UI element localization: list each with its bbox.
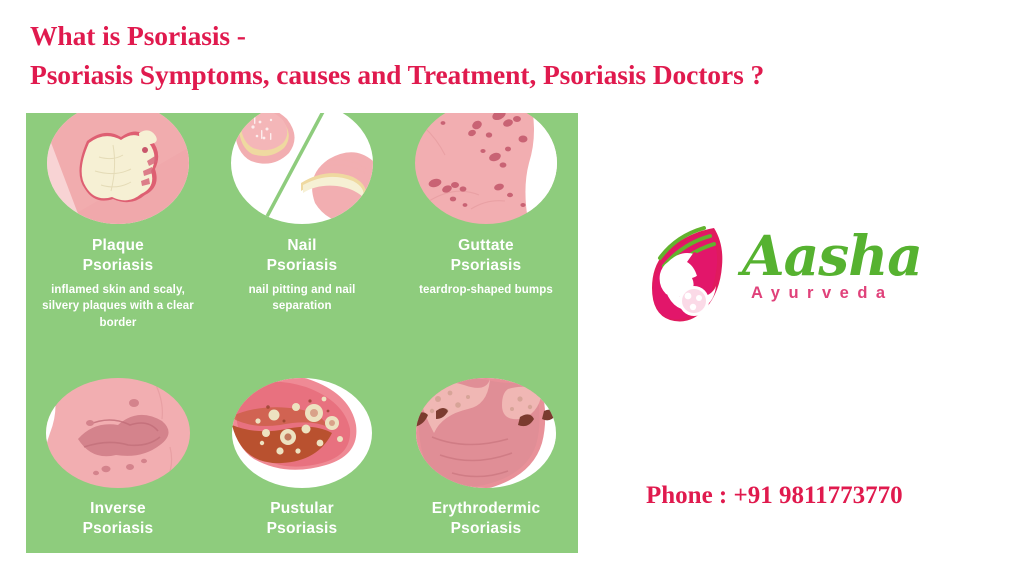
page-title-line-2: Psoriasis Symptoms, causes and Treatment… bbox=[30, 55, 1020, 94]
page-title: What is Psoriasis - Psoriasis Symptoms, … bbox=[30, 16, 1020, 94]
psoriasis-card-title: Inverse Psoriasis bbox=[26, 499, 210, 539]
inverse-psoriasis-illustration bbox=[44, 377, 192, 489]
brand-wordmark: Aasha Ayurveda bbox=[742, 228, 922, 302]
psoriasis-card-plaque: Plaque Psoriasis inflamed skin and scaly… bbox=[26, 113, 210, 371]
psoriasis-types-grid: Plaque Psoriasis inflamed skin and scaly… bbox=[26, 113, 578, 553]
plaque-psoriasis-illustration bbox=[43, 113, 193, 227]
psoriasis-card-title: Guttate Psoriasis bbox=[394, 236, 578, 276]
psoriasis-card-description: nail pitting and nail separation bbox=[210, 282, 394, 315]
pustular-psoriasis-illustration bbox=[228, 377, 376, 489]
psoriasis-card-description: teardrop-shaped bumps bbox=[394, 282, 578, 298]
brand-name: Aasha bbox=[742, 228, 922, 283]
psoriasis-card-description: inflamed skin and scaly, silvery plaques… bbox=[26, 282, 210, 331]
psoriasis-card-erythrodermic: Erythrodermic Psoriasis bbox=[394, 371, 578, 553]
nail-psoriasis-illustration bbox=[227, 113, 377, 227]
psoriasis-types-infographic: Plaque Psoriasis inflamed skin and scaly… bbox=[26, 113, 578, 553]
psoriasis-card-title: Pustular Psoriasis bbox=[210, 499, 394, 539]
phone-number[interactable]: Phone : +91 9811773770 bbox=[646, 481, 903, 511]
psoriasis-card-guttate: Guttate Psoriasis teardrop-shaped bumps bbox=[394, 113, 578, 371]
psoriasis-card-title: Erythrodermic Psoriasis bbox=[394, 499, 578, 539]
mother-and-baby-droplet-icon bbox=[650, 222, 738, 330]
page-title-line-1: What is Psoriasis - bbox=[30, 16, 1020, 55]
psoriasis-card-pustular: Pustular Psoriasis bbox=[210, 371, 394, 553]
brand-logo[interactable]: Aasha Ayurveda bbox=[650, 222, 920, 334]
psoriasis-card-title: Plaque Psoriasis bbox=[26, 236, 210, 276]
erythrodermic-psoriasis-illustration bbox=[412, 377, 560, 489]
guttate-psoriasis-illustration bbox=[411, 113, 561, 227]
psoriasis-card-title: Nail Psoriasis bbox=[210, 236, 394, 276]
psoriasis-card-nail: Nail Psoriasis nail pitting and nail sep… bbox=[210, 113, 394, 371]
psoriasis-card-inverse: Inverse Psoriasis bbox=[26, 371, 210, 553]
